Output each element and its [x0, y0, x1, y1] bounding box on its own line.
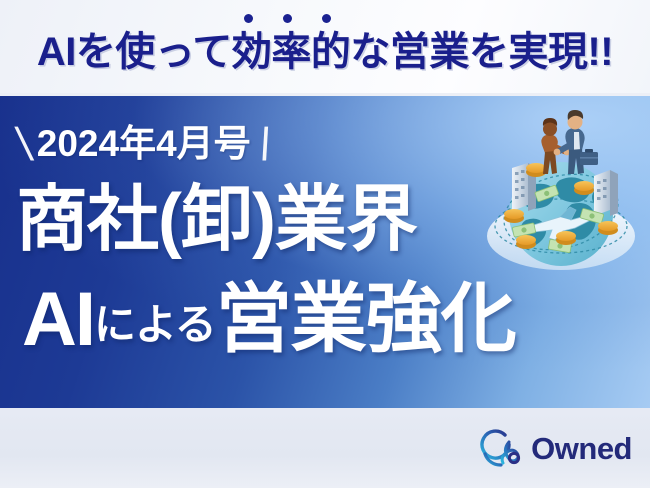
headline-ai-text: AI [22, 281, 94, 359]
emphasis-dots [244, 14, 364, 28]
emphasis-dot [283, 14, 292, 23]
headline-particle-text: による [94, 294, 216, 359]
headline-line-1: 商社(卸)業界 [16, 180, 417, 260]
owned-logo-wordmark: Owned [531, 433, 632, 464]
global-business-globe-illustration [468, 108, 650, 288]
issue-date-lockup: \ 2024年4月号 / [18, 118, 271, 170]
headline-line-2: AI による 営業強化 [22, 281, 516, 359]
banner-headline: AIを使って効率的な営業を実現!! [0, 27, 650, 77]
briefcase-icon [580, 149, 598, 165]
emphasis-dot [322, 14, 331, 23]
magazine-cover-slide: AIを使って効率的な営業を実現!! \ 2024年4月号 / 商社(卸)業界 A… [0, 0, 650, 488]
top-banner: AIを使って効率的な営業を実現!! [0, 0, 650, 93]
owned-logo-mark-icon [478, 426, 524, 470]
office-building-right [594, 170, 618, 216]
emphasis-dot [244, 14, 253, 23]
owned-logo[interactable]: Owned [478, 426, 632, 470]
issue-date-label: 2024年4月号 [37, 124, 251, 164]
headline-main-text: 営業強化 [216, 281, 516, 359]
footer-bar: Owned [0, 408, 650, 488]
